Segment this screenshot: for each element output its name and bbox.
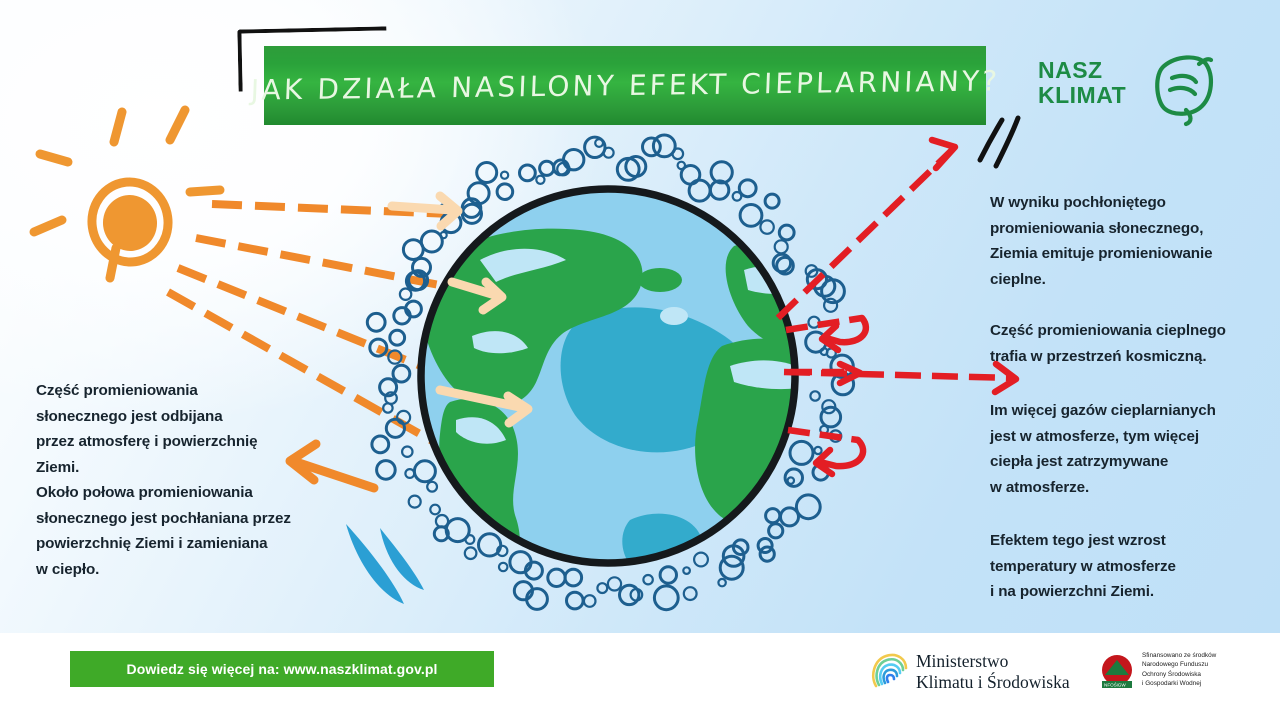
svg-text:NFOŚiGW: NFOŚiGW <box>1104 681 1126 688</box>
logo-line-1: NASZ <box>1038 58 1126 83</box>
double-stroke-accent-icon <box>962 112 1032 192</box>
ministry-swirl-icon <box>868 650 910 694</box>
r3-line-3: ciepła jest zatrzymywane <box>990 449 1248 475</box>
r4-line-2: temperatury w atmosferze <box>990 554 1240 580</box>
fund-line-2: Narodowego Funduszu <box>1142 660 1216 669</box>
nasz-klimat-logo[interactable]: NASZ KLIMAT <box>1038 52 1218 124</box>
r1-line-2: promieniowania słonecznego, <box>990 216 1252 242</box>
r4-line-3: i na powierzchni Ziemi. <box>990 579 1240 605</box>
r3-line-2: jest w atmosferze, tym więcej <box>990 424 1248 450</box>
fund-line-3: Ochrony Środowiska <box>1142 670 1216 679</box>
r2-line-1: Część promieniowania cieplnego <box>990 318 1258 344</box>
logo-wordmark: NASZ KLIMAT <box>1038 58 1126 108</box>
left-line-6: słonecznego jest pochłaniana przez <box>36 506 336 532</box>
fund-text: Sfinansowano ze środków Narodowego Fundu… <box>1142 651 1216 689</box>
infographic-canvas: JAK DZIAŁA NASILONY EFEKT CIEPLARNIANY? … <box>0 0 1280 721</box>
ministry-wordmark: Ministerstwo Klimatu i Środowiska <box>916 651 1070 693</box>
logo-line-2: KLIMAT <box>1038 83 1126 108</box>
blue-leaf-swoosh <box>332 516 462 626</box>
ministry-line-2: Klimatu i Środowiska <box>916 672 1070 693</box>
page-title: JAK DZIAŁA NASILONY EFEKT CIEPLARNIANY? <box>250 64 1001 106</box>
cta-label: Dowiedz się więcej na: www.naszklimat.go… <box>127 661 438 677</box>
learn-more-cta[interactable]: Dowiedz się więcej na: www.naszklimat.go… <box>70 651 494 687</box>
left-line-1: Część promieniowania <box>36 378 336 404</box>
r3-line-1: Im więcej gazów cieplarnianych <box>990 398 1248 424</box>
title-banner: JAK DZIAŁA NASILONY EFEKT CIEPLARNIANY? <box>264 46 986 125</box>
r1-line-1: W wyniku pochłoniętego <box>990 190 1252 216</box>
text-block-right-emission: W wyniku pochłoniętego promieniowania sł… <box>990 190 1252 292</box>
nfosigw-logo: NFOŚiGW Sfinansowano ze środków Narodowe… <box>1098 650 1263 698</box>
leaf-icon <box>1142 50 1220 126</box>
r3-line-4: w atmosferze. <box>990 475 1248 501</box>
left-line-2: słonecznego jest odbijana <box>36 404 336 430</box>
r4-line-1: Efektem tego jest wzrost <box>990 528 1240 554</box>
ministry-line-1: Ministerstwo <box>916 651 1070 672</box>
fund-line-4: i Gospodarki Wodnej <box>1142 679 1216 688</box>
text-block-right-effect: Efektem tego jest wzrost temperatury w a… <box>990 528 1240 605</box>
text-block-right-escape: Część promieniowania cieplnego trafia w … <box>990 318 1258 369</box>
left-line-3: przez atmosferę i powierzchnię <box>36 429 336 455</box>
left-line-7: powierzchnię Ziemi i zamieniana <box>36 531 336 557</box>
ministry-logo: Ministerstwo Klimatu i Środowiska <box>868 648 1083 696</box>
r1-line-4: cieplne. <box>990 267 1252 293</box>
left-line-8: w ciepło. <box>36 557 336 583</box>
text-block-left: Część promieniowania słonecznego jest od… <box>36 378 336 582</box>
text-block-right-trapping: Im więcej gazów cieplarnianych jest w at… <box>990 398 1248 500</box>
r2-line-2: trafia w przestrzeń kosmiczną. <box>990 344 1258 370</box>
r1-line-3: Ziemia emituje promieniowanie <box>990 241 1252 267</box>
nfosigw-logo-icon: NFOŚiGW <box>1098 653 1136 693</box>
fund-line-1: Sfinansowano ze środków <box>1142 651 1216 660</box>
left-line-4: Ziemi. <box>36 455 336 481</box>
left-line-5: Około połowa promieniowania <box>36 480 336 506</box>
